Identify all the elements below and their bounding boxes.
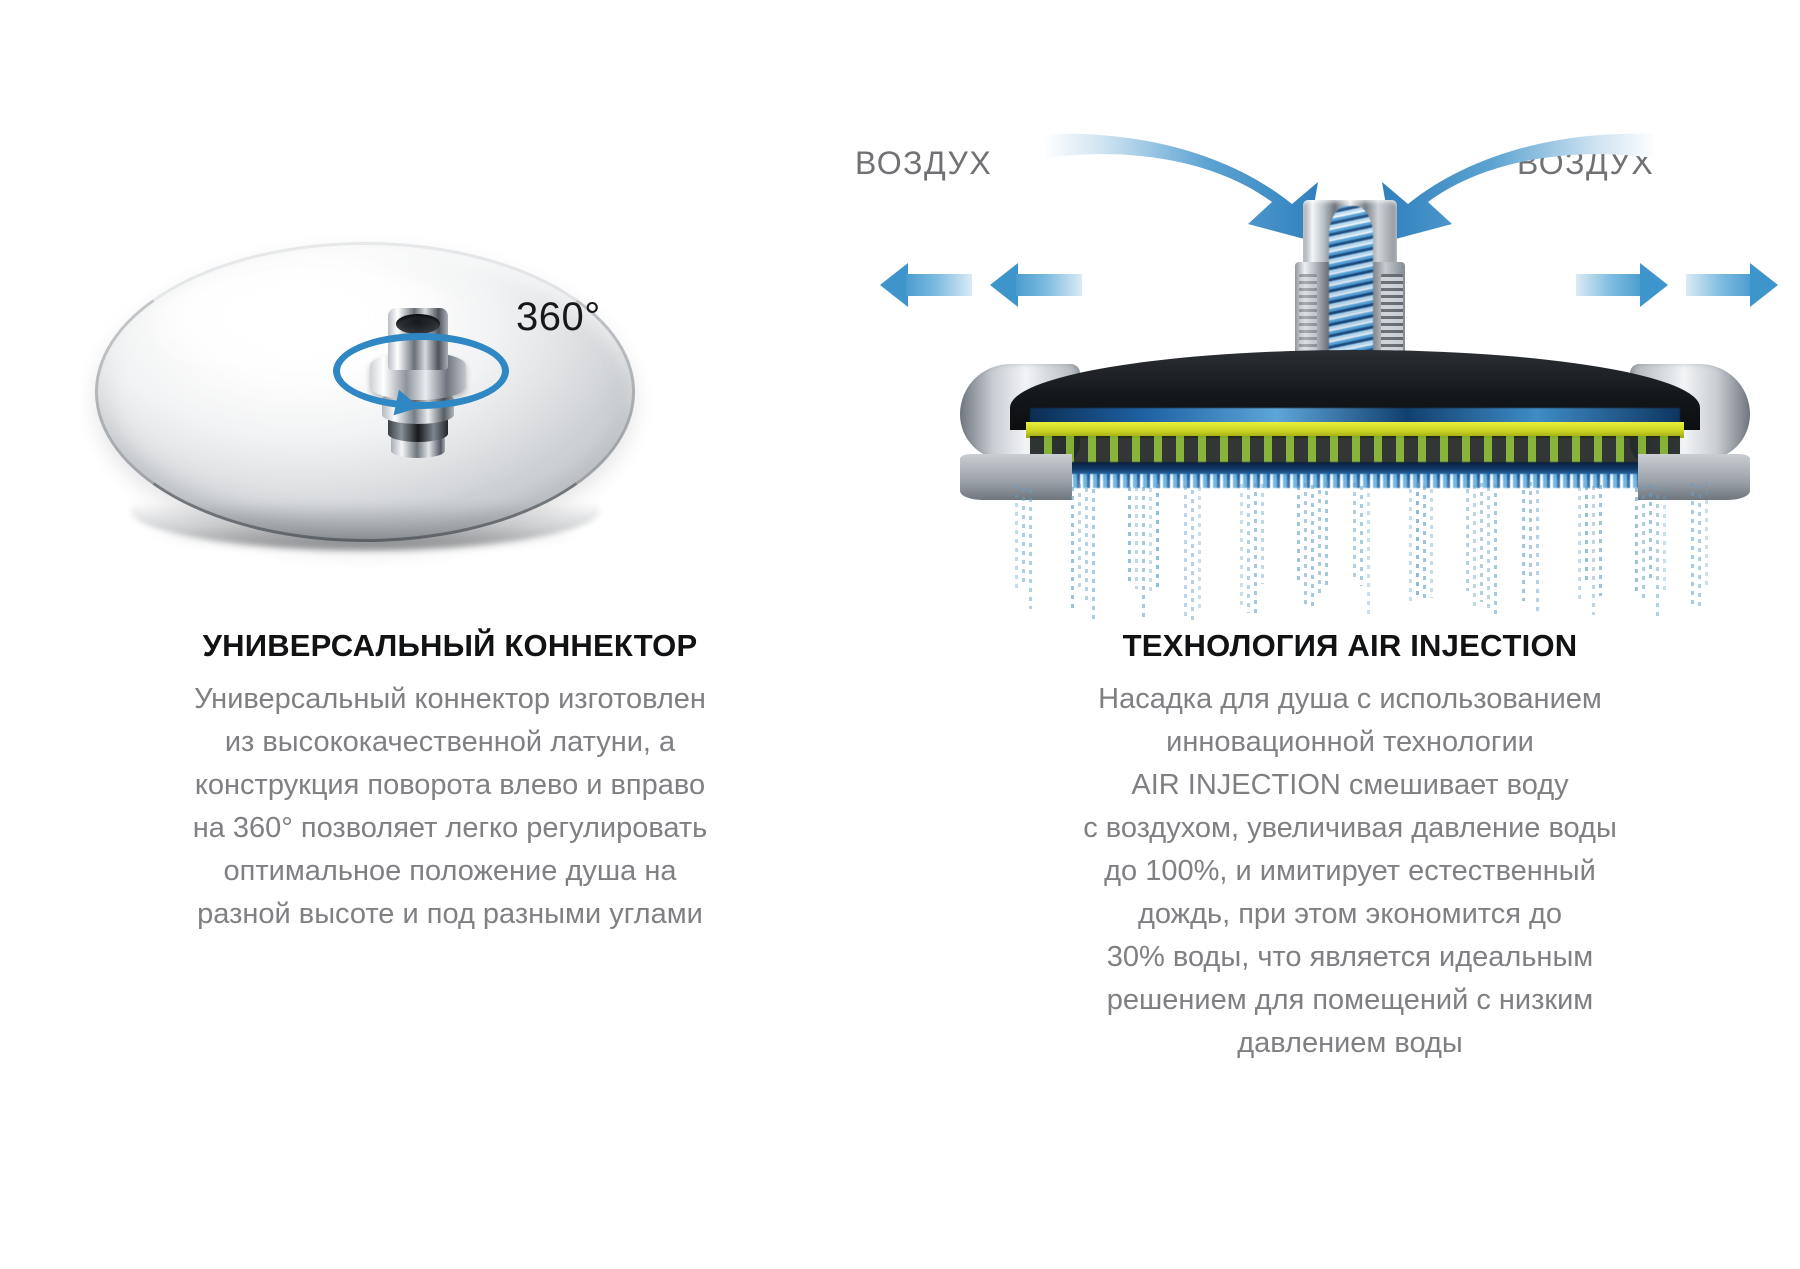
rotation-degree-badge: 360° [516, 295, 601, 340]
water-jet [1691, 483, 1694, 606]
water-jet [1430, 489, 1433, 598]
infographic-page: 360° УНИВЕРСАЛЬНЫЙ КОННЕКТОР Универсальн… [0, 0, 1800, 1269]
water-jet [1142, 487, 1145, 617]
water-jet [1149, 488, 1152, 594]
body-line: оптимальное положение душа на [100, 850, 800, 893]
body-line: инновационной технологии [990, 721, 1710, 764]
shower-head-cutaway [960, 350, 1750, 490]
water-jet [1480, 483, 1483, 601]
left-panel-heading: УНИВЕРСАЛЬНЫЙ КОННЕКТОР [100, 628, 800, 664]
panel-air-injection: ВОЗДУХ ВОЗДУХ [900, 0, 1800, 1269]
water-jet [1261, 484, 1264, 584]
arrow-right-inner-icon [1576, 263, 1668, 307]
water-jet [1022, 488, 1025, 585]
water-jet [1078, 484, 1081, 590]
left-text-block: УНИВЕРСАЛЬНЫЙ КОННЕКТОР Универсальный ко… [100, 628, 800, 936]
water-jet [1240, 484, 1243, 606]
water-jet [1599, 485, 1602, 597]
water-jet [1578, 487, 1581, 605]
water-jet [1487, 487, 1490, 609]
body-line: на 360° позволяет легко регулировать [100, 807, 800, 850]
body-line: дождь, при этом экономится до [990, 893, 1710, 936]
water-jet [1085, 488, 1088, 605]
water-jet [1536, 490, 1539, 613]
water-jet [1135, 487, 1138, 589]
water-jet [1071, 487, 1074, 609]
water-jet [1585, 486, 1588, 584]
body-line: с воздухом, увеличивая давление воды [990, 807, 1710, 850]
water-jet [1254, 483, 1257, 615]
right-panel-body: Насадка для душа с использованием иннова… [990, 678, 1710, 1065]
water-jet [1191, 490, 1194, 622]
body-line: Универсальный коннектор изготовлен [100, 678, 800, 721]
body-line: AIR INJECTION смешивает воду [990, 764, 1710, 807]
water-jet [1184, 486, 1187, 618]
water-jet [1409, 489, 1412, 604]
water-jet [1029, 489, 1032, 609]
right-text-block: ТЕХНОЛОГИЯ AIR INJECTION Насадка для душ… [990, 628, 1710, 1065]
inlet-thread-left [1299, 274, 1317, 352]
water-jet [1015, 485, 1018, 589]
curved-arrow-left [1043, 134, 1318, 240]
water-jet [1698, 485, 1701, 608]
water-jet [1367, 484, 1370, 615]
water-jet [1663, 487, 1666, 595]
water-jet [1466, 489, 1469, 592]
body-line: до 100%, и имитирует естественный [990, 850, 1710, 893]
water-jet [1304, 483, 1307, 604]
body-line: конструкция поворота влево и вправо [100, 764, 800, 807]
water-jet [1325, 482, 1328, 586]
water-jet [1635, 488, 1638, 595]
arrow-left-inner-icon [990, 263, 1082, 307]
body-line: Насадка для душа с использованием [990, 678, 1710, 721]
connector-bore [396, 314, 440, 334]
curved-arrow-right [1382, 134, 1657, 240]
water-jet [1649, 484, 1652, 581]
disc-bottom-edge [130, 470, 600, 550]
shower-head-disc-illustration: 360° [0, 0, 900, 620]
water-inlet-nozzle [1295, 200, 1405, 370]
body-line: 30% воды, что является идеальным [990, 936, 1710, 979]
water-jet [1128, 487, 1131, 585]
water-jet [1705, 482, 1708, 589]
water-jet [1522, 490, 1525, 601]
water-jet [1297, 486, 1300, 583]
arrow-left-outer-icon [880, 263, 972, 307]
water-jet [1416, 483, 1419, 596]
water-jet [1318, 490, 1321, 593]
water-jet [1642, 486, 1645, 603]
water-jet [1247, 486, 1250, 613]
right-panel-heading: ТЕХНОЛОГИЯ AIR INJECTION [990, 628, 1710, 664]
turbulent-water-core [1329, 206, 1373, 371]
arrow-right-outer-icon [1686, 263, 1778, 307]
water-jet [1423, 486, 1426, 600]
water-jet [1529, 482, 1532, 579]
water-jet [1353, 483, 1356, 578]
body-line: из высококачественной латуни, а [100, 721, 800, 764]
water-jet [1592, 486, 1595, 615]
left-panel-body: Универсальный коннектор изготовлен из вы… [100, 678, 800, 936]
water-jet [1494, 484, 1497, 615]
panel-universal-connector: 360° УНИВЕРСАЛЬНЫЙ КОННЕКТОР Универсальн… [0, 0, 900, 1269]
water-spray [1010, 482, 1710, 622]
body-line: решением для помещений с низким [990, 979, 1710, 1022]
water-jet [1092, 489, 1095, 621]
water-jet [1360, 486, 1363, 586]
water-jet [1156, 484, 1159, 588]
water-jet [1198, 487, 1201, 609]
body-line: разной высоте и под разными углами [100, 893, 800, 936]
body-line: давлением воды [990, 1022, 1710, 1065]
water-jet [1656, 486, 1659, 618]
water-jet [1311, 485, 1314, 608]
water-jet [1473, 485, 1476, 611]
air-injection-illustration: ВОЗДУХ ВОЗДУХ [900, 0, 1800, 620]
inlet-thread-right [1381, 274, 1403, 352]
